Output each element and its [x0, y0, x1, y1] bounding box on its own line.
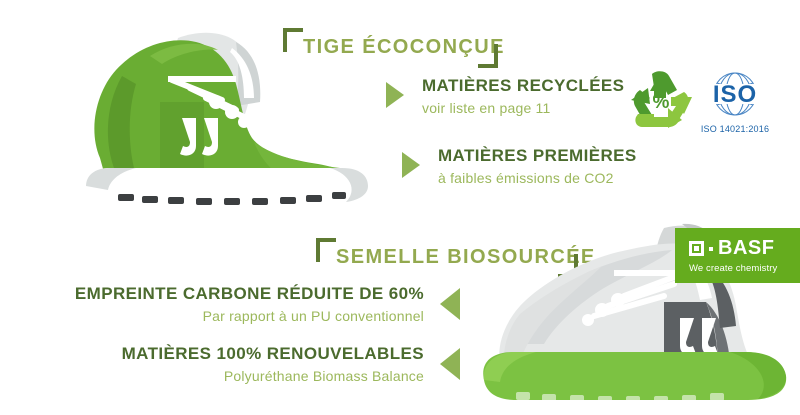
- basf-dot-icon: [709, 247, 713, 251]
- bullet-heading: EMPREINTE CARBONE RÉDUITE DE 60%: [75, 284, 424, 304]
- iso-certification-icon: ISO ISO 14021:2016: [692, 70, 778, 134]
- svg-text:%: %: [653, 92, 670, 113]
- bullet-subheading: à faibles émissions de CO2: [438, 170, 637, 186]
- bullet-subheading: Polyuréthane Biomass Balance: [122, 368, 424, 384]
- basf-logo: BASF We create chemistry: [675, 228, 800, 283]
- triangle-right-icon: [386, 82, 404, 108]
- bullet-matieres-recyclees: MATIÈRES RECYCLÉES voir liste en page 11: [386, 76, 624, 116]
- infographic-canvas: TIGE ÉCOCONÇUE MATIÈRES RECYCLÉES voir l…: [0, 0, 800, 411]
- section-title-tige: TIGE ÉCOCONÇUE: [283, 28, 498, 66]
- bullet-heading: MATIÈRES RECYCLÉES: [422, 76, 624, 96]
- triangle-left-icon: [440, 288, 460, 320]
- basf-tagline: We create chemistry: [689, 263, 800, 274]
- bullet-heading: MATIÈRES 100% RENOUVELABLES: [122, 344, 424, 364]
- bullet-subheading: voir liste en page 11: [422, 100, 624, 116]
- basf-square-mark-icon: [689, 241, 704, 256]
- bracket-top-left-icon: [316, 238, 336, 262]
- bullet-subheading: Par rapport à un PU conventionnel: [75, 308, 424, 324]
- recycling-percent-icon: %: [628, 70, 694, 137]
- triangle-right-icon: [402, 152, 420, 178]
- section-title-label: TIGE ÉCOCONÇUE: [303, 36, 505, 59]
- bullet-matieres-renouvelables: MATIÈRES 100% RENOUVELABLES Polyuréthane…: [60, 344, 460, 384]
- iso-caption: ISO 14021:2016: [692, 124, 778, 134]
- bullet-heading: MATIÈRES PREMIÈRES: [438, 146, 637, 166]
- bracket-top-left-icon: [283, 28, 303, 52]
- svg-text:ISO: ISO: [713, 81, 757, 108]
- bullet-matieres-premieres: MATIÈRES PREMIÈRES à faibles émissions d…: [402, 146, 637, 186]
- bullet-empreinte-carbone: EMPREINTE CARBONE RÉDUITE DE 60% Par rap…: [60, 284, 460, 324]
- bracket-bottom-right-icon: [478, 44, 498, 68]
- triangle-left-icon: [440, 348, 460, 380]
- basf-wordmark: BASF: [718, 237, 774, 260]
